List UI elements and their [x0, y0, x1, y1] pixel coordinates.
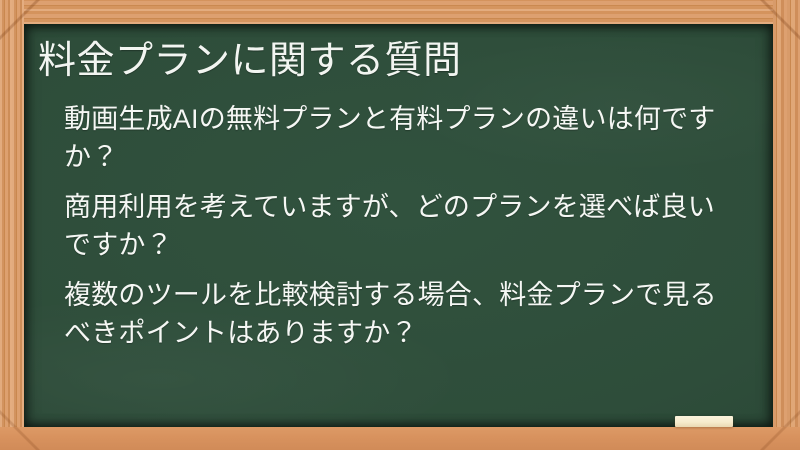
frame-rail-left	[0, 0, 24, 450]
chalkboard-slide: 料金プランに関する質問 動画生成AIの無料プランと有料プランの違いは何ですか？ …	[0, 0, 800, 450]
list-item: 複数のツールを比較検討する場合、料金プランで見るべきポイントはありますか？	[64, 276, 732, 352]
chalkboard-content: 料金プランに関する質問 動画生成AIの無料プランと有料プランの違いは何ですか？ …	[24, 24, 773, 427]
frame-rail-top	[0, 0, 800, 24]
frame-rail-right	[773, 0, 800, 450]
page-title: 料金プランに関する質問	[30, 36, 753, 86]
chalkboard-surface: 料金プランに関する質問 動画生成AIの無料プランと有料プランの違いは何ですか？ …	[24, 24, 773, 427]
list-item: 動画生成AIの無料プランと有料プランの違いは何ですか？	[64, 100, 732, 176]
chalk-stick-icon	[675, 416, 733, 427]
question-list: 動画生成AIの無料プランと有料プランの違いは何ですか？ 商用利用を考えていますが…	[30, 100, 753, 352]
list-item: 商用利用を考えていますが、どのプランを選べば良いですか？	[64, 188, 732, 264]
frame-ledge-bottom	[0, 427, 800, 450]
